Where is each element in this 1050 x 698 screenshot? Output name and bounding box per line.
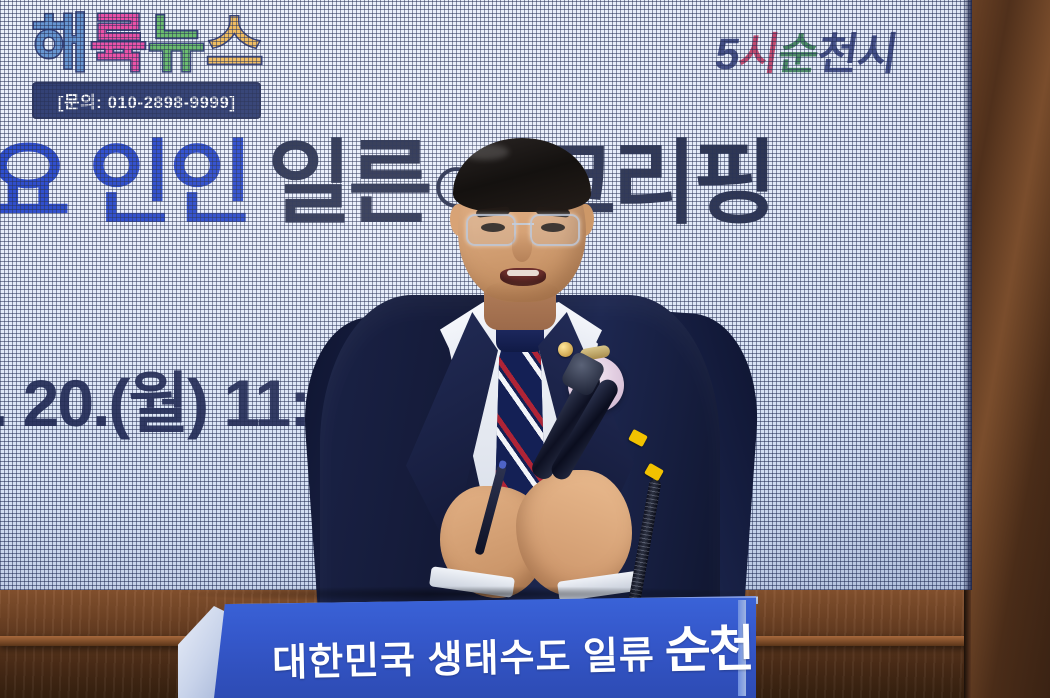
- podium-slogan: 대한민국 생태수도 일류순천: [271, 609, 732, 691]
- logo-char-3: 뉴: [148, 14, 203, 76]
- glasses-lens-right: [530, 214, 580, 246]
- led-right-edge: [963, 0, 972, 590]
- logo-char-1: 해: [32, 14, 87, 76]
- emblem-segment-4: 천시: [814, 30, 900, 79]
- logo-char-4: 스: [206, 14, 261, 76]
- microphone-group: [560, 350, 720, 600]
- wooden-wall-panel: [964, 0, 1050, 698]
- hair: [453, 138, 591, 212]
- led-headline-blue: 요 인인: [0, 138, 249, 230]
- glasses-lens-left: [466, 214, 516, 246]
- podium-lectern: 대한민국 생태수도 일류순천: [178, 596, 756, 698]
- podium-city-name: 순천: [664, 621, 753, 679]
- microphone-tape-marker-1: [628, 429, 648, 447]
- logo-char-2: 륙: [90, 14, 145, 76]
- press-conference-photo: 요 인인 일른○○크리핑 . 20.(월) 11:00 5시순천시 해 륙 뉴 …: [0, 0, 1050, 698]
- chin: [486, 280, 558, 302]
- suncheon-city-emblem: 5시순천시: [711, 18, 901, 82]
- news-logo-text: 해 륙 뉴 스: [32, 14, 261, 76]
- microphone-tape-marker-2: [644, 463, 664, 481]
- contact-info-bar: [문의: 010-2898-9999]: [32, 82, 261, 119]
- news-watermark-logo: 해 륙 뉴 스 [문의: 010-2898-9999]: [32, 14, 261, 119]
- podium-slogan-text: 대한민국 생태수도 일류: [272, 635, 656, 685]
- emblem-segment-2: 시: [735, 30, 781, 79]
- nose: [512, 232, 532, 262]
